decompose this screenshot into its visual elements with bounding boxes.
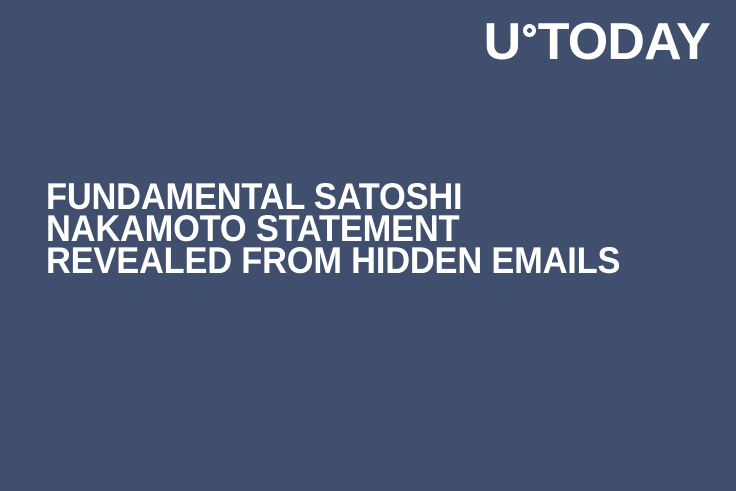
headline: FUNDAMENTAL SATOSHI NAKAMOTO STATEMENT R… [46,181,686,277]
brand-wordmark-today: TODAY [538,18,710,67]
headline-line-3: REVEALED FROM HIDDEN EMAILS [46,245,641,277]
article-share-card: U TODAY FUNDAMENTAL SATOSHI NAKAMOTO STA… [0,0,736,491]
degree-ring-icon [523,24,536,37]
brand-letter-u: U [484,18,521,67]
brand-logo[interactable]: U TODAY [484,18,710,67]
